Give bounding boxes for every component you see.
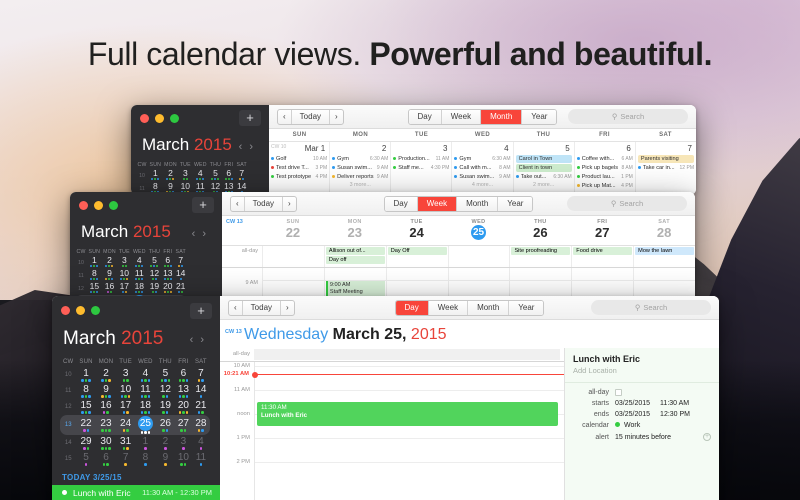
event-color-dot bbox=[638, 166, 641, 169]
allday-checkbox[interactable] bbox=[615, 389, 622, 396]
month-day-cell[interactable]: CW 10Mar 1Golf10 AMTest drive T...3 PMTe… bbox=[269, 142, 330, 195]
mini-day-number: 10 bbox=[178, 452, 189, 463]
day-hour-label: 11 AM bbox=[234, 387, 250, 393]
month-event[interactable]: Gym6:30 AM bbox=[454, 155, 510, 163]
mini-day-cell[interactable]: 3 bbox=[175, 435, 192, 451]
week-cw-label: CW 13 bbox=[222, 216, 262, 245]
month-day-cell[interactable]: 3Production...11 AMStaff me...4:30 PM bbox=[391, 142, 452, 195]
inspector-field-time[interactable]: 11:30 AM bbox=[660, 400, 689, 407]
month-event[interactable]: Pick up Mat...4 PM bbox=[577, 182, 633, 190]
month-event[interactable]: Take car in...12 PM bbox=[638, 164, 694, 172]
event-inspector[interactable]: Lunch with Eric Add Location all-daystar… bbox=[564, 348, 719, 500]
week-allday-cell[interactable] bbox=[448, 246, 510, 267]
close-button[interactable] bbox=[79, 201, 88, 210]
week-day-header-cell[interactable]: SAT28 bbox=[633, 216, 695, 245]
event-title: Pick up Mat... bbox=[582, 183, 618, 189]
month-event[interactable]: Test prototype4 PM bbox=[271, 173, 327, 181]
mini-day-number: 5 bbox=[149, 256, 160, 265]
event-time: 4:30 PM bbox=[431, 165, 450, 171]
inspector-row-alert[interactable]: alert15 minutes before+ bbox=[573, 433, 711, 441]
month-col-header-sun: SUN bbox=[269, 129, 330, 141]
mini-day-cell[interactable]: 15 bbox=[76, 399, 95, 415]
week-day-header[interactable]: CW 13SUN22MON23TUE24WED25THU26FRI27SAT28 bbox=[222, 216, 695, 246]
next-period-button[interactable]: › bbox=[330, 110, 343, 124]
inspector-field-label: calendar bbox=[573, 422, 615, 429]
mini-day-cell[interactable]: 7 bbox=[192, 367, 210, 383]
add-event-button[interactable]: + bbox=[190, 303, 212, 319]
mini-day-number: 11 bbox=[133, 269, 146, 278]
inspector-row-starts[interactable]: starts03/25/201511:30 AM bbox=[573, 400, 711, 407]
calendar-window-month[interactable]: + March 2015 ‹› CWSUNMONTUEWEDTHUFRISAT1… bbox=[131, 105, 696, 195]
window-traffic-lights[interactable] bbox=[79, 201, 118, 210]
mini-week-row[interactable]: 15567891011 bbox=[60, 451, 210, 467]
mini-calendar-nav[interactable]: ‹› bbox=[192, 228, 213, 240]
month-event[interactable]: Test drive T...3 PM bbox=[271, 164, 327, 172]
mini-calendar-grid-1[interactable]: CWSUNMONTUEWEDTHUFRISAT10123456711891011… bbox=[131, 160, 269, 195]
week-allday-event[interactable]: Day Off bbox=[388, 247, 447, 255]
view-tab-day[interactable]: Day bbox=[409, 110, 442, 124]
calendar-window-day[interactable]: + March 2015 ‹› CWSUNMONTUEWEDTHUFRISAT1… bbox=[52, 296, 719, 500]
event-color-dot bbox=[332, 157, 335, 160]
inspector-title: Lunch with Eric bbox=[573, 354, 711, 364]
inspector-field-time[interactable]: 12:30 PM bbox=[660, 411, 690, 418]
mini-day-cell[interactable]: 4 bbox=[192, 435, 210, 451]
event-color-dot bbox=[393, 166, 396, 169]
mini-day-cell[interactable]: 11 bbox=[135, 383, 156, 399]
event-title: Test drive T... bbox=[276, 165, 312, 171]
mini-day-cell[interactable]: 7 bbox=[116, 451, 135, 467]
mini-day-cell[interactable]: 15 bbox=[87, 282, 102, 295]
mini-day-cell[interactable]: 28 bbox=[192, 415, 210, 435]
week-allday-event[interactable]: Food drive bbox=[573, 247, 632, 255]
mini-col-header-cw: CW bbox=[75, 247, 87, 256]
mini-day-cell[interactable]: 2 bbox=[156, 435, 175, 451]
day-hour-gutter: 10 AM11 AMnoon1 PM2 PM10:21 AM bbox=[220, 362, 254, 500]
mini-day-cell[interactable]: 23 bbox=[96, 415, 117, 435]
window-traffic-lights[interactable] bbox=[140, 114, 179, 123]
mini-day-number: 1 bbox=[79, 368, 92, 379]
inspector-row-allday[interactable]: all-day bbox=[573, 389, 711, 396]
view-tab-month[interactable]: Month bbox=[457, 197, 498, 211]
mini-col-header-cw: CW bbox=[136, 160, 148, 169]
prev-period-button[interactable]: ‹ bbox=[278, 110, 291, 124]
month-col-header-wed: WED bbox=[452, 129, 513, 141]
day-allday-row[interactable]: all-day bbox=[220, 348, 564, 362]
month-more-link[interactable]: 4 more... bbox=[454, 182, 510, 188]
sidebar-event-item[interactable]: Lunch with Eric11:30 AM - 12:30 PM bbox=[52, 485, 220, 500]
mini-day-cell[interactable]: 20 bbox=[162, 282, 174, 295]
month-date-number: 7 bbox=[638, 143, 694, 155]
month-event[interactable]: Coffee with...6 AM bbox=[577, 155, 633, 163]
mini-day-number: 7 bbox=[176, 256, 186, 265]
mini-day-cell[interactable]: 16 bbox=[102, 282, 118, 295]
mini-day-cell[interactable]: 10 bbox=[116, 383, 135, 399]
mini-day-cell[interactable]: 31 bbox=[116, 435, 135, 451]
mini-col-header-fri: FRI bbox=[175, 357, 192, 367]
month-event[interactable]: Gym6:30 AM bbox=[332, 155, 388, 163]
mini-day-cell[interactable]: 14 bbox=[192, 383, 210, 399]
current-time-dot bbox=[252, 372, 258, 378]
inspector-location-input[interactable]: Add Location bbox=[573, 366, 711, 375]
month-date-number: 5 bbox=[516, 143, 572, 155]
event-color-dot bbox=[454, 175, 457, 178]
day-time-grid[interactable]: 10 AM11 AMnoon1 PM2 PM10:21 AM 11:30 AML… bbox=[220, 362, 564, 500]
month-day-cell[interactable]: 6Coffee with...6 AMPick up bagels8 AMPro… bbox=[575, 142, 636, 195]
mini-day-cell[interactable]: 20 bbox=[175, 399, 192, 415]
month-event[interactable]: Pick up bagels8 AM bbox=[577, 164, 633, 172]
mini-calendar-month: March bbox=[63, 328, 116, 349]
mini-day-number: 3 bbox=[178, 436, 189, 447]
close-button[interactable] bbox=[61, 306, 70, 315]
week-daynumber: 27 bbox=[571, 225, 633, 240]
view-tab-week[interactable]: Week bbox=[429, 301, 468, 315]
mini-day-number: 6 bbox=[99, 452, 114, 463]
month-grid[interactable]: CW 10Mar 1Golf10 AMTest drive T...3 PMTe… bbox=[269, 142, 696, 195]
event-time: 6:30 AM bbox=[492, 156, 510, 162]
week-allday-cell[interactable]: Allison out of...Day off bbox=[324, 246, 386, 267]
mini-day-cell[interactable]: 30 bbox=[96, 435, 117, 451]
event-time: 6 AM bbox=[621, 156, 632, 162]
mini-day-number: 8 bbox=[89, 269, 101, 278]
month-event[interactable]: Golf10 AM bbox=[271, 155, 327, 163]
event-color-dot bbox=[577, 157, 580, 160]
today-button[interactable]: Today bbox=[291, 110, 330, 124]
mini-day-cell[interactable]: 13 bbox=[175, 383, 192, 399]
today-button[interactable]: Today bbox=[244, 197, 283, 211]
date-nav-segmented[interactable]: ‹ Today › bbox=[277, 109, 344, 125]
allday-label: all-day bbox=[222, 246, 262, 267]
week-allday-cell[interactable]: Site proofreading bbox=[509, 246, 571, 267]
prev-period-button[interactable]: ‹ bbox=[231, 197, 244, 211]
mini-day-cell[interactable]: 22 bbox=[76, 415, 95, 435]
mini-day-dots bbox=[195, 463, 207, 467]
event-time: 11:30 AM bbox=[261, 404, 554, 412]
month-col-header-tue: TUE bbox=[391, 129, 452, 141]
mini-day-cell[interactable]: 10 bbox=[175, 451, 192, 467]
inspector-field-value[interactable]: Work bbox=[615, 422, 640, 429]
mini-calendar-title: March 2015 ‹› bbox=[131, 131, 269, 157]
mini-day-cell[interactable]: 6 bbox=[175, 367, 192, 383]
minimize-button[interactable] bbox=[76, 306, 85, 315]
add-alert-icon[interactable]: + bbox=[703, 433, 711, 441]
month-toolbar[interactable]: ‹ Today › DayWeekMonthYear ⚲ Search bbox=[269, 105, 696, 129]
week-allday-event[interactable]: Day off bbox=[326, 256, 385, 264]
event-title: Call with m... bbox=[459, 165, 496, 171]
mini-calendar-grid-3[interactable]: CWSUNMONTUEWEDTHUFRISAT10123456711891011… bbox=[52, 357, 220, 467]
mini-day-cell[interactable]: 18 bbox=[131, 282, 147, 295]
month-date-number: 4 bbox=[454, 143, 510, 155]
inspector-fields[interactable]: all-daystarts03/25/201511:30 AMends03/25… bbox=[573, 389, 711, 441]
mini-day-number: 31 bbox=[119, 436, 132, 447]
mini-day-cell[interactable]: 18 bbox=[135, 399, 156, 415]
mini-day-dots bbox=[99, 429, 114, 433]
week-day-header-cell[interactable]: MON23 bbox=[324, 216, 386, 245]
week-allday-event[interactable]: Site proofreading bbox=[511, 247, 570, 255]
mini-calendar-title: March 2015 ‹› bbox=[52, 324, 220, 352]
search-placeholder: Search bbox=[619, 199, 643, 208]
inspector-field-value[interactable]: 15 minutes before bbox=[615, 434, 671, 441]
date-nav-segmented[interactable]: ‹ Today › bbox=[228, 300, 295, 316]
month-event[interactable]: Susan swim...9 AM bbox=[332, 164, 388, 172]
day-toolbar[interactable]: ‹ Today › DayWeekMonthYear ⚲ Search bbox=[220, 296, 719, 320]
mini-calendar-month: March bbox=[81, 222, 128, 241]
mini-week-row[interactable]: 1215161718192021 bbox=[75, 282, 187, 295]
month-day-cell[interactable]: 7Parents visitingTake car in...12 PM bbox=[636, 142, 696, 195]
mini-day-cell[interactable]: 19 bbox=[147, 282, 161, 295]
view-tab-week[interactable]: Week bbox=[442, 110, 481, 124]
mini-day-cell[interactable]: 16 bbox=[96, 399, 117, 415]
today-button[interactable]: Today bbox=[242, 301, 281, 315]
minimize-button[interactable] bbox=[94, 201, 103, 210]
day-hour-canvas[interactable]: 11:30 AMLunch with Eric bbox=[254, 362, 564, 500]
mini-day-number: 6 bbox=[178, 368, 189, 379]
search-input[interactable]: ⚲ Search bbox=[567, 196, 687, 211]
window-traffic-lights[interactable] bbox=[61, 306, 100, 315]
mini-day-cell[interactable]: 11 bbox=[192, 451, 210, 467]
week-daynumber: 22 bbox=[262, 225, 324, 240]
search-input[interactable]: ⚲ Search bbox=[591, 300, 711, 315]
mini-day-number: 4 bbox=[138, 368, 153, 379]
day-hour-label: 10 AM bbox=[234, 363, 250, 369]
month-event[interactable]: Staff me...4:30 PM bbox=[393, 164, 449, 172]
mini-day-cell[interactable]: 17 bbox=[117, 282, 131, 295]
week-allday-row[interactable]: all-dayAllison out of...Day offDay OffSi… bbox=[222, 246, 695, 268]
mini-day-number: 3 bbox=[180, 169, 191, 178]
view-tab-month[interactable]: Month bbox=[468, 301, 509, 315]
mini-day-cell[interactable]: 4 bbox=[135, 367, 156, 383]
day-hour-gridline bbox=[255, 462, 564, 463]
mini-day-cell[interactable]: 29 bbox=[76, 435, 95, 451]
event-title: Gym bbox=[459, 156, 489, 162]
day-schedule-pane[interactable]: all-day 10 AM11 AMnoon1 PM2 PM10:21 AM 1… bbox=[220, 348, 564, 500]
zoom-button[interactable] bbox=[109, 201, 118, 210]
mini-day-number: 22 bbox=[79, 418, 92, 429]
mini-week-row[interactable]: 1322232425262728 bbox=[60, 415, 210, 435]
mini-day-number: 20 bbox=[163, 282, 172, 291]
week-allday-event[interactable]: Mow the lawn bbox=[635, 247, 694, 255]
mini-day-number: 7 bbox=[195, 368, 207, 379]
mini-week-row[interactable]: 1215161718192021 bbox=[60, 399, 210, 415]
mini-day-dots bbox=[138, 463, 153, 467]
mini-calendar-table[interactable]: CWSUNMONTUEWEDTHUFRISAT10123456711891011… bbox=[136, 160, 248, 195]
mini-day-cell[interactable]: 8 bbox=[76, 383, 95, 399]
mini-day-cell[interactable]: 12 bbox=[156, 383, 175, 399]
mini-day-number: 6 bbox=[224, 169, 233, 178]
today-heading: TODAY 3/25/15 bbox=[52, 467, 220, 485]
month-date-number: 6 bbox=[577, 143, 633, 155]
mini-day-cell[interactable]: 6 bbox=[96, 451, 117, 467]
inspector-field-value[interactable]: 03/25/2015 bbox=[615, 400, 650, 407]
mini-day-cell[interactable]: 1 bbox=[76, 367, 95, 383]
mini-cw-cell: 13 bbox=[60, 415, 76, 435]
mini-calendar-table[interactable]: CWSUNMONTUEWEDTHUFRISAT10123456711891011… bbox=[60, 357, 210, 467]
month-event[interactable]: Carol in Town bbox=[516, 155, 572, 163]
week-day-header-cell[interactable]: WED25 bbox=[448, 216, 510, 245]
mini-day-cell[interactable]: 21 bbox=[192, 399, 210, 415]
week-daynumber: 24 bbox=[386, 225, 448, 240]
mini-day-dots bbox=[159, 463, 172, 467]
inspector-row-ends[interactable]: ends03/25/201512:30 PM bbox=[573, 411, 711, 418]
event-color-dot bbox=[271, 175, 274, 178]
mini-day-number: 15 bbox=[79, 400, 92, 411]
mini-day-number: 4 bbox=[133, 256, 146, 265]
day-event-lunch[interactable]: 11:30 AMLunch with Eric bbox=[257, 402, 558, 426]
search-input[interactable]: ⚲ Search bbox=[568, 109, 688, 124]
view-tab-week[interactable]: Week bbox=[418, 197, 457, 211]
day-weekday: Wednesday bbox=[244, 326, 333, 343]
week-day-header-cell[interactable]: FRI27 bbox=[571, 216, 633, 245]
week-day-header-cell[interactable]: SUN22 bbox=[262, 216, 324, 245]
view-switcher-month[interactable]: DayWeekMonthYear bbox=[408, 109, 558, 125]
week-allday-event[interactable]: Allison out of... bbox=[326, 247, 385, 255]
mini-day-dots bbox=[159, 429, 172, 433]
next-period-button[interactable]: › bbox=[283, 197, 296, 211]
minimize-button[interactable] bbox=[155, 114, 164, 123]
event-time: 1 PM bbox=[621, 174, 633, 180]
mini-day-number: 13 bbox=[163, 269, 172, 278]
month-day-cell[interactable]: 4Gym6:30 AMCall with m...8 AMSusan swim.… bbox=[452, 142, 513, 195]
prev-period-button[interactable]: ‹ bbox=[229, 301, 242, 315]
mini-day-cell[interactable]: 21 bbox=[174, 282, 187, 295]
event-color-dot bbox=[454, 166, 457, 169]
mini-week-row[interactable]: 101234567 bbox=[60, 367, 210, 383]
mini-calendar-nav[interactable]: ‹› bbox=[190, 334, 211, 346]
view-tab-day[interactable]: Day bbox=[396, 301, 429, 315]
view-tab-month[interactable]: Month bbox=[481, 110, 522, 124]
inspector-field-value[interactable]: 03/25/2015 bbox=[615, 411, 650, 418]
mini-day-cell[interactable]: 2 bbox=[96, 367, 117, 383]
month-event[interactable]: Call with m...8 AM bbox=[454, 164, 510, 172]
week-hour-gridline bbox=[572, 280, 633, 281]
allday-label: all-day bbox=[220, 348, 254, 361]
mini-col-header-wed: WED bbox=[135, 357, 156, 367]
event-time: 8 AM bbox=[621, 165, 632, 171]
mini-day-number: 2 bbox=[103, 256, 116, 265]
week-allday-cell[interactable] bbox=[262, 246, 324, 267]
mini-week-row[interactable]: 11891011121314 bbox=[60, 383, 210, 399]
week-allday-cell[interactable]: Day Off bbox=[386, 246, 448, 267]
month-more-link[interactable]: 3 more... bbox=[332, 182, 388, 188]
mini-calendar-year: 2015 bbox=[121, 328, 163, 349]
zoom-button[interactable] bbox=[170, 114, 179, 123]
mini-day-number: 6 bbox=[163, 256, 172, 265]
day-year: 2015 bbox=[411, 326, 447, 343]
mini-day-cell[interactable]: 9 bbox=[96, 383, 117, 399]
current-time-line bbox=[255, 374, 564, 375]
mini-day-cell[interactable]: 17 bbox=[116, 399, 135, 415]
event-time: 9:00 AM bbox=[330, 282, 383, 289]
view-tab-year[interactable]: Year bbox=[498, 197, 532, 211]
mini-day-cell[interactable]: 25 bbox=[135, 415, 156, 435]
mini-day-number: 11 bbox=[195, 452, 207, 463]
month-event[interactable]: Take out...6:30 AM bbox=[516, 173, 572, 181]
mini-day-number: 1 bbox=[150, 169, 162, 178]
inspector-divider bbox=[565, 382, 719, 383]
mini-day-number: 20 bbox=[178, 400, 189, 411]
mini-day-cell[interactable]: 24 bbox=[116, 415, 135, 435]
mini-day-dots bbox=[119, 429, 132, 433]
week-day-header-cell[interactable]: THU26 bbox=[509, 216, 571, 245]
view-tab-year[interactable]: Year bbox=[522, 110, 556, 124]
month-event[interactable]: Susan swim...9 AM bbox=[454, 173, 510, 181]
event-color-dot bbox=[454, 157, 457, 160]
week-window-sidebar: + March 2015 ‹› CWSUNMONTUEWEDTHUFRISAT1… bbox=[70, 192, 222, 307]
mini-day-number: 10 bbox=[119, 269, 130, 278]
zoom-button[interactable] bbox=[91, 306, 100, 315]
view-tab-day[interactable]: Day bbox=[385, 197, 418, 211]
week-allday-cell[interactable]: Food drive bbox=[571, 246, 633, 267]
mini-day-number: 18 bbox=[133, 282, 146, 291]
calendar-color-dot bbox=[615, 422, 620, 427]
inspector-row-calendar[interactable]: calendarWork bbox=[573, 422, 711, 429]
month-day-cell[interactable]: 5Carol in TownClient in townTake out...6… bbox=[514, 142, 575, 195]
mini-day-number: 14 bbox=[195, 384, 207, 395]
allday-dropzone[interactable] bbox=[254, 349, 560, 360]
next-period-button[interactable]: › bbox=[281, 301, 294, 315]
view-switcher-week[interactable]: DayWeekMonthYear bbox=[384, 196, 534, 212]
month-event[interactable]: Production...11 AM bbox=[393, 155, 449, 163]
week-allday-cell[interactable]: Mow the lawn bbox=[633, 246, 695, 267]
day-hour-gridline bbox=[255, 438, 564, 439]
week-daynumber: 28 bbox=[633, 225, 695, 240]
mini-week-row[interactable]: 142930311234 bbox=[60, 435, 210, 451]
mini-calendar-nav[interactable]: ‹› bbox=[239, 141, 260, 153]
event-title: Client in town bbox=[519, 165, 569, 171]
mini-day-cell[interactable]: 26 bbox=[156, 415, 175, 435]
month-day-cell[interactable]: 2Gym6:30 AMSusan swim...9 AMDeliver repo… bbox=[330, 142, 391, 195]
mini-day-dots bbox=[79, 429, 92, 433]
week-toolbar[interactable]: ‹ Today › DayWeekMonthYear ⚲ Search bbox=[222, 192, 695, 216]
mini-day-cell[interactable]: 5 bbox=[156, 367, 175, 383]
week-hour-gridline bbox=[263, 280, 324, 281]
add-event-button[interactable]: + bbox=[192, 197, 214, 213]
month-event[interactable]: Product lau...1 PM bbox=[577, 173, 633, 181]
mini-day-number: 5 bbox=[79, 452, 92, 463]
event-time: 12 PM bbox=[680, 165, 694, 171]
view-tab-year[interactable]: Year bbox=[509, 301, 543, 315]
month-event[interactable]: Parents visiting bbox=[638, 155, 694, 163]
event-title: Production... bbox=[398, 156, 432, 162]
view-switcher-day[interactable]: DayWeekMonthYear bbox=[395, 300, 545, 316]
mini-calendar-title: March 2015 ‹› bbox=[70, 218, 222, 244]
mini-day-cell[interactable]: 9 bbox=[156, 451, 175, 467]
sidebar-event-list[interactable]: Lunch with Eric11:30 AM - 12:30 PMDentis… bbox=[52, 485, 220, 500]
mini-col-header-mon: MON bbox=[96, 357, 117, 367]
mini-day-cell[interactable]: 1 bbox=[135, 435, 156, 451]
mini-day-cell[interactable]: 27 bbox=[175, 415, 192, 435]
event-color-dot bbox=[62, 490, 67, 495]
mini-day-cell[interactable]: 5 bbox=[76, 451, 95, 467]
mini-day-cell[interactable]: 19 bbox=[156, 399, 175, 415]
headline-light: Full calendar views. bbox=[88, 36, 370, 72]
mini-day-number: 12 bbox=[149, 269, 160, 278]
event-title: Staff Meeting bbox=[330, 289, 383, 296]
close-button[interactable] bbox=[140, 114, 149, 123]
day-titlebar: + bbox=[52, 296, 220, 324]
mini-day-cell[interactable]: 8 bbox=[135, 451, 156, 467]
add-event-button[interactable]: + bbox=[239, 110, 261, 126]
mini-day-number: 16 bbox=[103, 282, 116, 291]
month-event[interactable]: Deliver reports9 AM bbox=[332, 173, 388, 181]
month-event[interactable]: Client in town bbox=[516, 164, 572, 172]
calendar-window-week[interactable]: + March 2015 ‹› CWSUNMONTUEWEDTHUFRISAT1… bbox=[70, 192, 695, 307]
event-title: Susan swim... bbox=[459, 174, 496, 180]
month-more-link[interactable]: 2 more... bbox=[516, 182, 572, 188]
date-nav-segmented[interactable]: ‹ Today › bbox=[230, 196, 297, 212]
mini-day-cell[interactable]: 3 bbox=[116, 367, 135, 383]
week-day-header-cell[interactable]: TUE24 bbox=[386, 216, 448, 245]
week-hour-gridline bbox=[449, 280, 510, 281]
